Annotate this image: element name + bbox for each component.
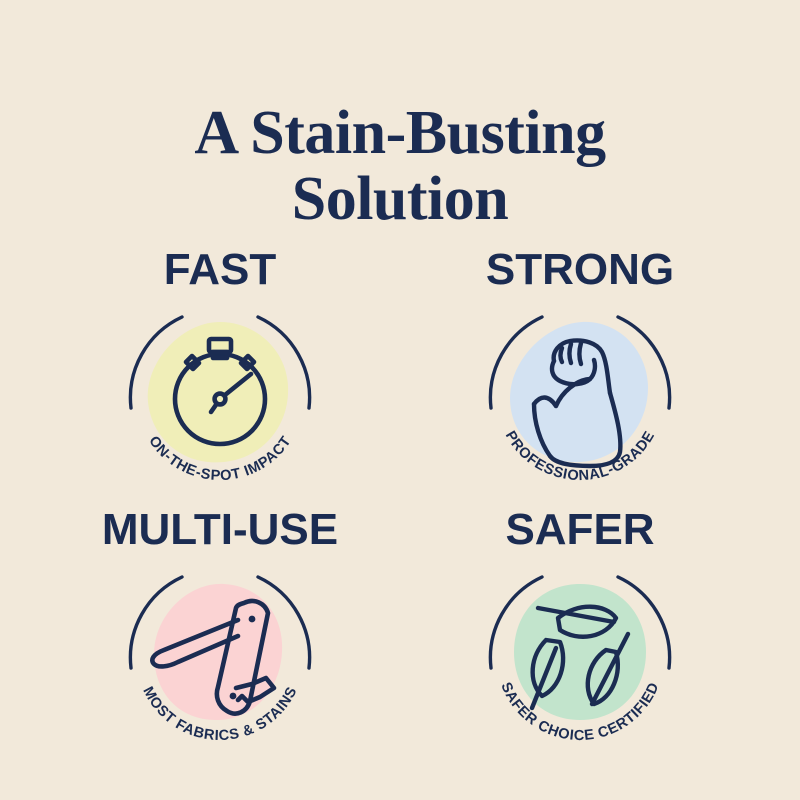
page-title-line-2: Solution — [0, 166, 800, 233]
badge-strong-title: STRONG — [450, 248, 710, 292]
badge-multi-use-emblem: MOST FABRICS & STAINS — [120, 556, 320, 756]
badge-safer-title: SAFER — [450, 508, 710, 552]
badge-safer: SAFER — [400, 508, 760, 758]
page-title-line-1: A Stain-Busting — [0, 100, 800, 167]
benefit-badge-grid: FAST — [40, 248, 760, 758]
badge-fast-title: FAST — [90, 248, 350, 292]
badge-fast-emblem: ON-THE-SPOT IMPACT — [120, 296, 320, 496]
poster-canvas: A Stain-Busting Solution FAST — [0, 0, 800, 800]
badge-multi-use-title: MULTI-USE — [90, 508, 350, 552]
badge-strong-emblem: PROFESSIONAL-GRADE — [480, 296, 680, 496]
page-title: A Stain-Busting Solution — [0, 100, 800, 234]
badge-multi-use: MULTI-USE — [40, 508, 400, 758]
badge-safer-emblem: SAFER CHOICE CERTIFIED — [480, 556, 680, 756]
badge-strong: STRONG — [400, 248, 760, 498]
badge-fast: FAST — [40, 248, 400, 498]
